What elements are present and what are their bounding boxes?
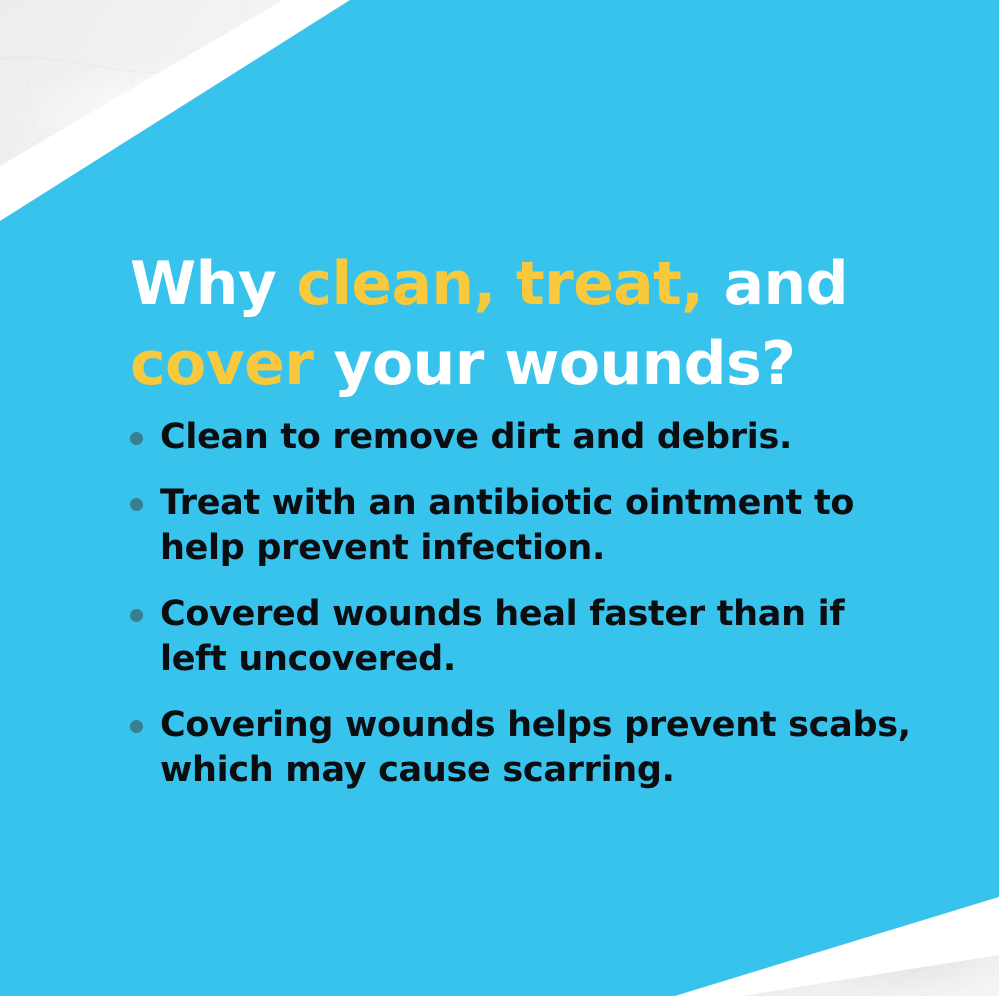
dot-bullet-icon xyxy=(130,432,143,445)
poster-canvas: Why clean, treat, and cover your wounds?… xyxy=(0,0,999,996)
headline-segment-0: Why xyxy=(130,249,297,319)
headline-segment-4: your wounds? xyxy=(313,329,795,399)
list-item: Covering wounds helps prevent scabs, whi… xyxy=(124,703,914,792)
headline-segment-2: and xyxy=(703,249,848,319)
list-item: Treat with an antibiotic ointment to hel… xyxy=(124,481,914,570)
list-item: Covered wounds heal faster than if left … xyxy=(124,592,914,681)
dot-bullet-icon xyxy=(130,720,143,733)
list-item-label: Treat with an antibiotic ointment to hel… xyxy=(160,481,914,570)
page-title: Why clean, treat, and cover your wounds? xyxy=(130,245,930,405)
list-item-label: Covered wounds heal faster than if left … xyxy=(160,592,914,681)
dot-bullet-icon xyxy=(130,609,143,622)
list-item-label: Covering wounds helps prevent scabs, whi… xyxy=(160,703,914,792)
list-item-label: Clean to remove dirt and debris. xyxy=(160,415,914,459)
poster-content: Why clean, treat, and cover your wounds?… xyxy=(0,0,999,996)
headline-segment-3: cover xyxy=(130,329,313,399)
headline-segment-1: clean, treat, xyxy=(297,249,704,319)
dot-bullet-icon xyxy=(130,498,143,511)
list-item: Clean to remove dirt and debris. xyxy=(124,415,914,459)
benefits-list: Clean to remove dirt and debris. Treat w… xyxy=(124,415,914,792)
